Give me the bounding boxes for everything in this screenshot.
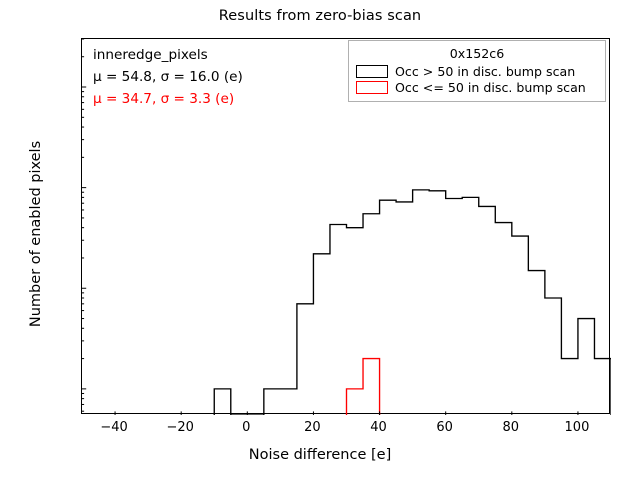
x-tick-label: 20 [304,420,321,435]
stats-annotation: inneredge_pixels μ = 54.8, σ = 16.0 (e) … [93,44,243,110]
legend-label-black: Occ > 50 in disc. bump scan [395,64,575,79]
legend-label-red: Occ <= 50 in disc. bump scan [395,80,586,95]
x-tick-label: −20 [166,420,193,435]
legend-box: 0x152c6 Occ > 50 in disc. bump scan Occ … [348,40,606,102]
legend-entry-black[interactable]: Occ > 50 in disc. bump scan [356,64,598,79]
x-tick-label: 100 [565,420,590,435]
chart-title: Results from zero-bias scan [0,8,640,24]
histogram-series-0 [214,190,611,415]
annotation-dataset-label: inneredge_pixels [93,44,243,66]
legend-swatch-black-icon [356,65,388,78]
x-tick-label: −40 [100,420,127,435]
x-tick-label: 80 [503,420,520,435]
x-tick-label: 60 [436,420,453,435]
histogram-series-1 [347,359,380,415]
x-axis-label: Noise difference [e] [0,447,640,463]
annotation-stats-red: μ = 34.7, σ = 3.3 (e) [93,88,243,110]
annotation-stats-black: μ = 54.8, σ = 16.0 (e) [93,66,243,88]
x-tick-label: 0 [242,420,250,435]
legend-entry-red[interactable]: Occ <= 50 in disc. bump scan [356,80,598,95]
y-axis-label: Number of enabled pixels [28,34,44,434]
legend-title: 0x152c6 [356,45,598,63]
figure-canvas: Results from zero-bias scan Number of en… [0,0,640,480]
legend-swatch-red-icon [356,81,388,94]
x-tick-label: 40 [370,420,387,435]
